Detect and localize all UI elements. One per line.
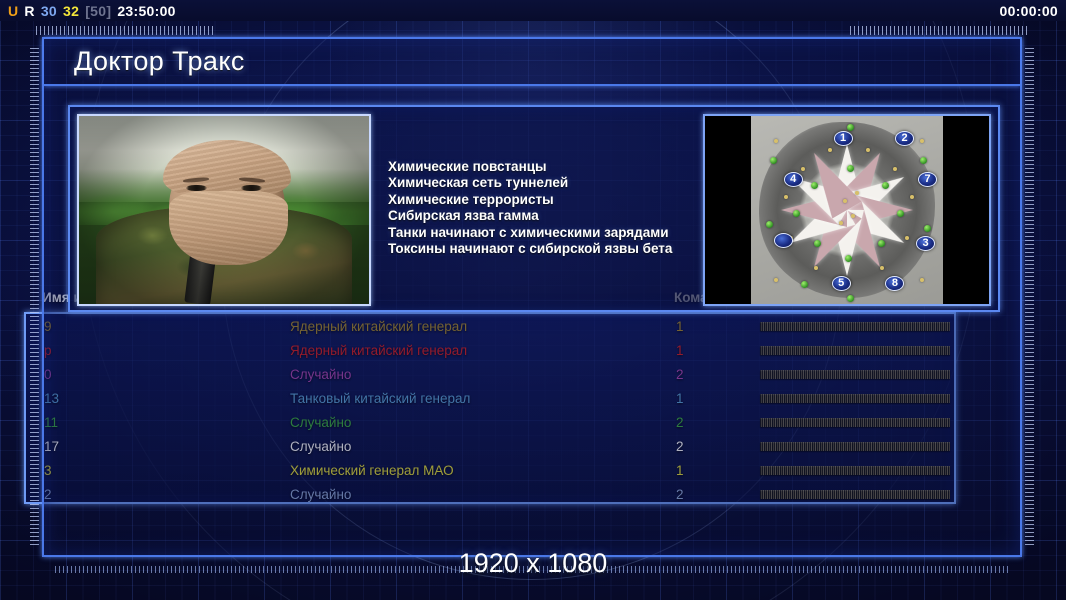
main-frame: Доктор Тракс [42,37,1022,557]
status-clock: 23:50:00 [117,3,175,19]
ruler-ticks-top-left [36,26,216,35]
map-tech-marker [920,139,924,143]
map-supply-marker [878,240,885,247]
map-supply-marker [811,182,818,189]
map-tech-marker [855,191,859,195]
map-tech-marker [920,278,924,282]
portrait-artwork [79,116,369,304]
status-value-30: 30 [41,3,57,19]
ruler-ticks-top-right [850,26,1030,35]
map-supply-marker [847,165,854,172]
mission-info-panel: Химические повстанцы Химическая сеть тун… [68,105,1000,312]
ruler-ticks-right [1025,48,1034,548]
status-right-group: 00:00:00 [1000,3,1058,19]
map-start-position[interactable]: 2 [895,131,914,146]
status-prefix-u: U [8,3,18,19]
status-timer: 00:00:00 [1000,3,1058,19]
map-tech-marker [828,148,832,152]
map-supply-marker [847,295,854,302]
map-start-position[interactable]: 1 [834,131,853,146]
map-start-position[interactable]: 7 [918,172,937,187]
status-prefix-r: R [24,3,34,19]
portrait-vignette [79,116,369,304]
map-tech-marker [851,214,855,218]
map-supply-marker [847,124,854,131]
map-supply-marker [897,210,904,217]
status-left-group: UR 30 32 [50] 23:50:00 [8,3,176,19]
map-tech-marker [774,139,778,143]
map-tech-marker [784,195,788,199]
map-tech-marker [905,236,909,240]
ruler-ticks-left [30,48,39,548]
map-tech-marker [801,167,805,171]
resolution-overlay: 1920 x 1080 [0,548,1066,579]
map-supply-marker [924,225,931,232]
map-supply-marker [882,182,889,189]
map-supply-marker [920,157,927,164]
page-title: Доктор Тракс [44,46,245,77]
map-tech-marker [893,167,897,171]
status-value-bracket: [50] [85,3,111,19]
map-start-position[interactable] [774,233,793,248]
game-lobby-screen: UR 30 32 [50] 23:50:00 00:00:00 Доктор Т… [0,0,1066,600]
top-status-bar: UR 30 32 [50] 23:50:00 00:00:00 [0,0,1066,21]
map-start-position[interactable]: 3 [916,236,935,251]
map-tech-marker [843,199,847,203]
title-strip: Доктор Тракс [44,39,1020,86]
map-preview[interactable]: 1247358 [703,114,991,306]
commander-portrait [77,114,371,306]
status-value-32: 32 [63,3,79,19]
map-start-position[interactable]: 5 [832,276,851,291]
map-image: 1247358 [751,116,943,304]
map-tech-marker [774,278,778,282]
map-start-position[interactable]: 8 [885,276,904,291]
